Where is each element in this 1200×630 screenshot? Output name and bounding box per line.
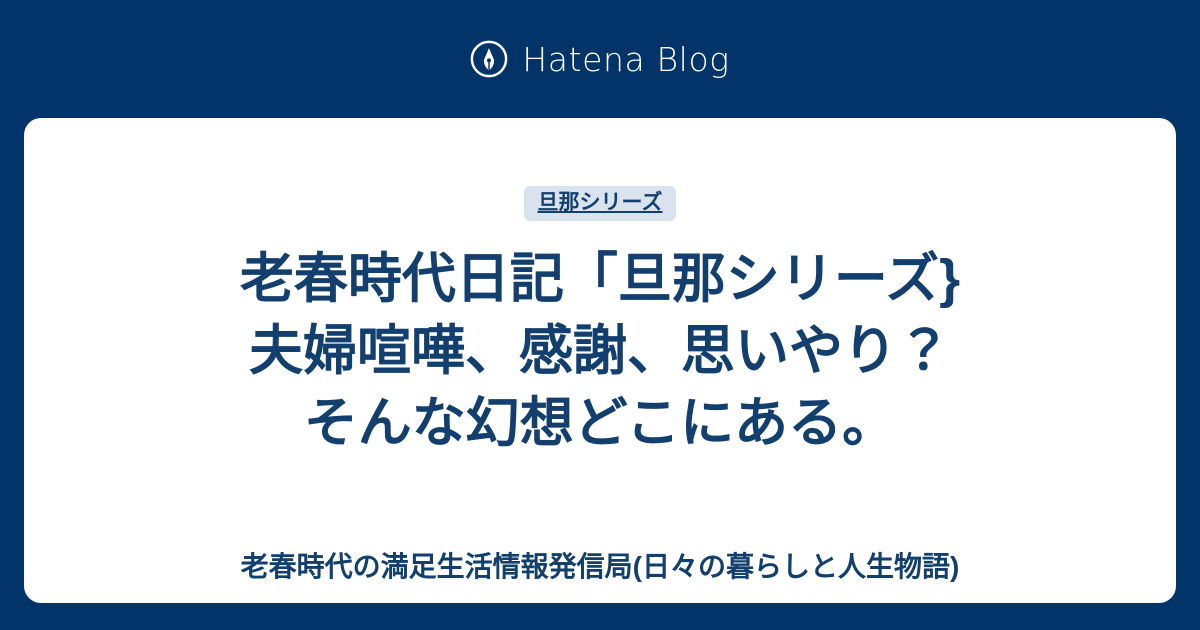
fountain-pen-nib-circle-icon — [470, 40, 508, 78]
entry-card-inner: 旦那シリーズ 老春時代日記「旦那シリーズ} 夫婦喧嘩、感謝、思いやり？ そんな幻… — [24, 118, 1176, 586]
blog-subtitle: 老春時代の満足生活情報発信局(日々の暮らしと人生物語) — [70, 549, 1130, 585]
hatena-logo — [470, 40, 508, 78]
brand-header: Hatena Blog — [0, 0, 1200, 118]
ogp-card-root: Hatena Blog 旦那シリーズ 老春時代日記「旦那シリーズ} 夫婦喧嘩、感… — [0, 0, 1200, 630]
entry-card: 旦那シリーズ 老春時代日記「旦那シリーズ} 夫婦喧嘩、感謝、思いやり？ そんな幻… — [24, 118, 1176, 603]
entry-title-line-1: 老春時代日記「旦那シリーズ} — [100, 243, 1100, 315]
entry-title-line-2: 夫婦喧嘩、感謝、思いやり？ — [100, 315, 1100, 387]
category-tag[interactable]: 旦那シリーズ — [524, 186, 677, 221]
brand-name: Hatena Blog — [522, 43, 729, 76]
category-row: 旦那シリーズ — [24, 186, 1176, 221]
entry-title-line-3: そんな幻想どこにある。 — [100, 387, 1100, 459]
entry-title: 老春時代日記「旦那シリーズ} 夫婦喧嘩、感謝、思いやり？ そんな幻想どこにある。 — [100, 243, 1100, 459]
